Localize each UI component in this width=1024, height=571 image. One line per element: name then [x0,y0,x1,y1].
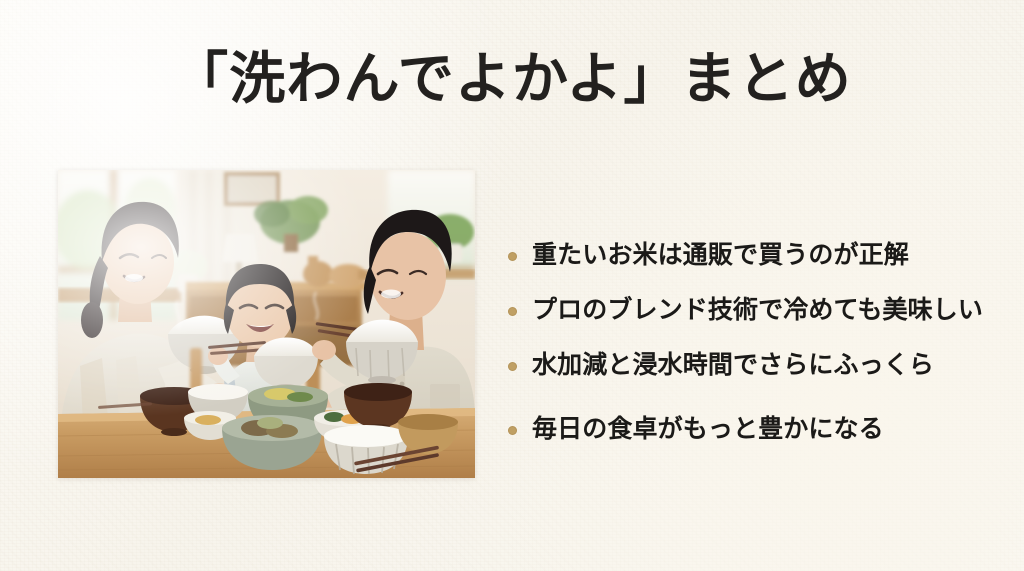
list-item-label: 水加減と浸水時間でさらにふっくら [532,350,934,381]
list-item: 水加減と浸水時間でさらにふっくら [508,338,1004,393]
bullet-dot-icon [508,362,517,371]
family-meal-photo [58,170,475,478]
bullet-dot-icon [508,252,517,261]
presentation-slide: 「洗わんでよかよ」まとめ [0,0,1024,571]
list-item: 重たいお米は通販で買うのが正解 [508,228,1004,283]
family-meal-illustration [58,170,475,478]
list-item: 毎日の食卓がもっと豊かになる [508,402,1004,457]
list-item-label: プロのブレンド技術で冷めても美味しい [532,295,983,326]
list-item-label: 毎日の食卓がもっと豊かになる [532,414,884,445]
page-title: 「洗わんでよかよ」まとめ [0,48,1024,112]
list-item: プロのブレンド技術で冷めても美味しい [508,283,1004,338]
bullet-dot-icon [508,307,517,316]
summary-bullet-list: 重たいお米は通販で買うのが正解 プロのブレンド技術で冷めても美味しい 水加減と浸… [508,228,1004,457]
list-item-label: 重たいお米は通販で買うのが正解 [532,240,909,271]
bullet-dot-icon [508,426,517,435]
